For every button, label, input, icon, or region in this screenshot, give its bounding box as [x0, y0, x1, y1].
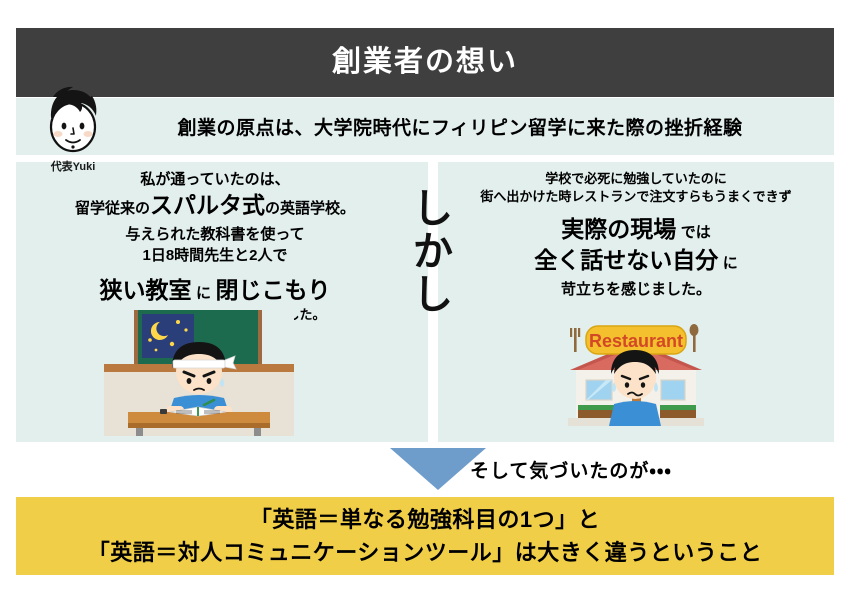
- right-line-4: 全く話せない自分 に: [444, 245, 828, 276]
- however-char-3: し: [412, 274, 454, 317]
- left-line-2-emphasis: スパルタ式: [150, 192, 265, 218]
- however-char-2: か: [412, 231, 454, 274]
- left-panel-text: 私が通っていたのは、 留学従来のスパルタ式の英語学校。 与えられた教科書を使って…: [16, 170, 428, 323]
- restaurant-sign-text: Restaurant: [589, 331, 683, 351]
- right-line-4-post: に: [723, 255, 738, 272]
- conclusion-line-2: 「英語＝対人コミュニケーションツール」は大きく違うということ: [88, 536, 763, 569]
- student-studying-at-night-icon: [104, 306, 294, 436]
- however-label: し か し: [412, 188, 454, 318]
- left-line-5-emphasis-1: 狭い教室: [100, 277, 192, 303]
- right-line-3: 実際の現場 では: [444, 214, 828, 245]
- avatar: 代表Yuki: [30, 84, 116, 174]
- right-line-3-post: では: [681, 224, 711, 241]
- right-line-1: 学校で必死に勉強していたのに: [444, 170, 828, 188]
- slide-root: 創業者の想い 創業の原点は、大学院時代にフィリピン留学に来た際の挫折経験: [0, 0, 849, 600]
- left-panel: 私が通っていたのは、 留学従来のスパルタ式の英語学校。 与えられた教科書を使って…: [16, 162, 428, 442]
- left-line-5-emphasis-2: 閉じこもり: [215, 277, 330, 303]
- left-line-5: 狭い教室 に 閉じこもり: [20, 275, 410, 306]
- left-line-2-post: の英語学校。: [265, 200, 355, 217]
- comparison-panels: 私が通っていたのは、 留学従来のスパルタ式の英語学校。 与えられた教科書を使って…: [16, 162, 834, 442]
- slide-title-bar: 創業者の想い: [16, 28, 834, 97]
- conclusion-line-1: 「英語＝単なる勉強科目の1つ」と: [250, 503, 600, 536]
- however-char-1: し: [412, 188, 454, 231]
- transition-arrow-row: そして気づいたのが・・・: [0, 448, 849, 496]
- arrow-caption: そして気づいたのが・・・: [470, 456, 672, 483]
- subtitle-band: 創業の原点は、大学院時代にフィリピン留学に来た際の挫折経験: [16, 98, 834, 155]
- person-face-icon: [40, 84, 106, 156]
- left-line-5-mid: に: [196, 285, 211, 302]
- left-line-3: 与えられた教科書を使って: [20, 225, 410, 245]
- right-line-3-emphasis: 実際の現場: [561, 216, 676, 242]
- right-line-5: 苛立ちを感じました。: [444, 280, 828, 300]
- subtitle-text: 創業の原点は、大学院時代にフィリピン留学に来た際の挫折経験: [107, 113, 742, 140]
- right-line-4-emphasis: 全く話せない自分: [534, 247, 718, 273]
- right-line-2: 街へ出かけた時レストランで注文すらもうまくできず: [444, 188, 828, 206]
- left-line-2-pre: 留学従来の: [75, 200, 150, 217]
- left-line-4: 1日8時間先生と2人で: [20, 246, 410, 266]
- restaurant-worried-person-icon: Restaurant: [548, 316, 723, 436]
- right-panel: 学校で必死に勉強していたのに 街へ出かけた時レストランで注文すらもうまくできず …: [438, 162, 834, 442]
- conclusion-box: 「英語＝単なる勉強科目の1つ」と 「英語＝対人コミュニケーションツール」は大きく…: [16, 497, 834, 575]
- right-panel-text: 学校で必死に勉強していたのに 街へ出かけた時レストランで注文すらもうまくできず …: [438, 170, 834, 300]
- avatar-label: 代表Yuki: [30, 158, 116, 174]
- page-title: 創業者の想い: [332, 48, 518, 77]
- left-line-2: 留学従来のスパルタ式の英語学校。: [20, 190, 410, 221]
